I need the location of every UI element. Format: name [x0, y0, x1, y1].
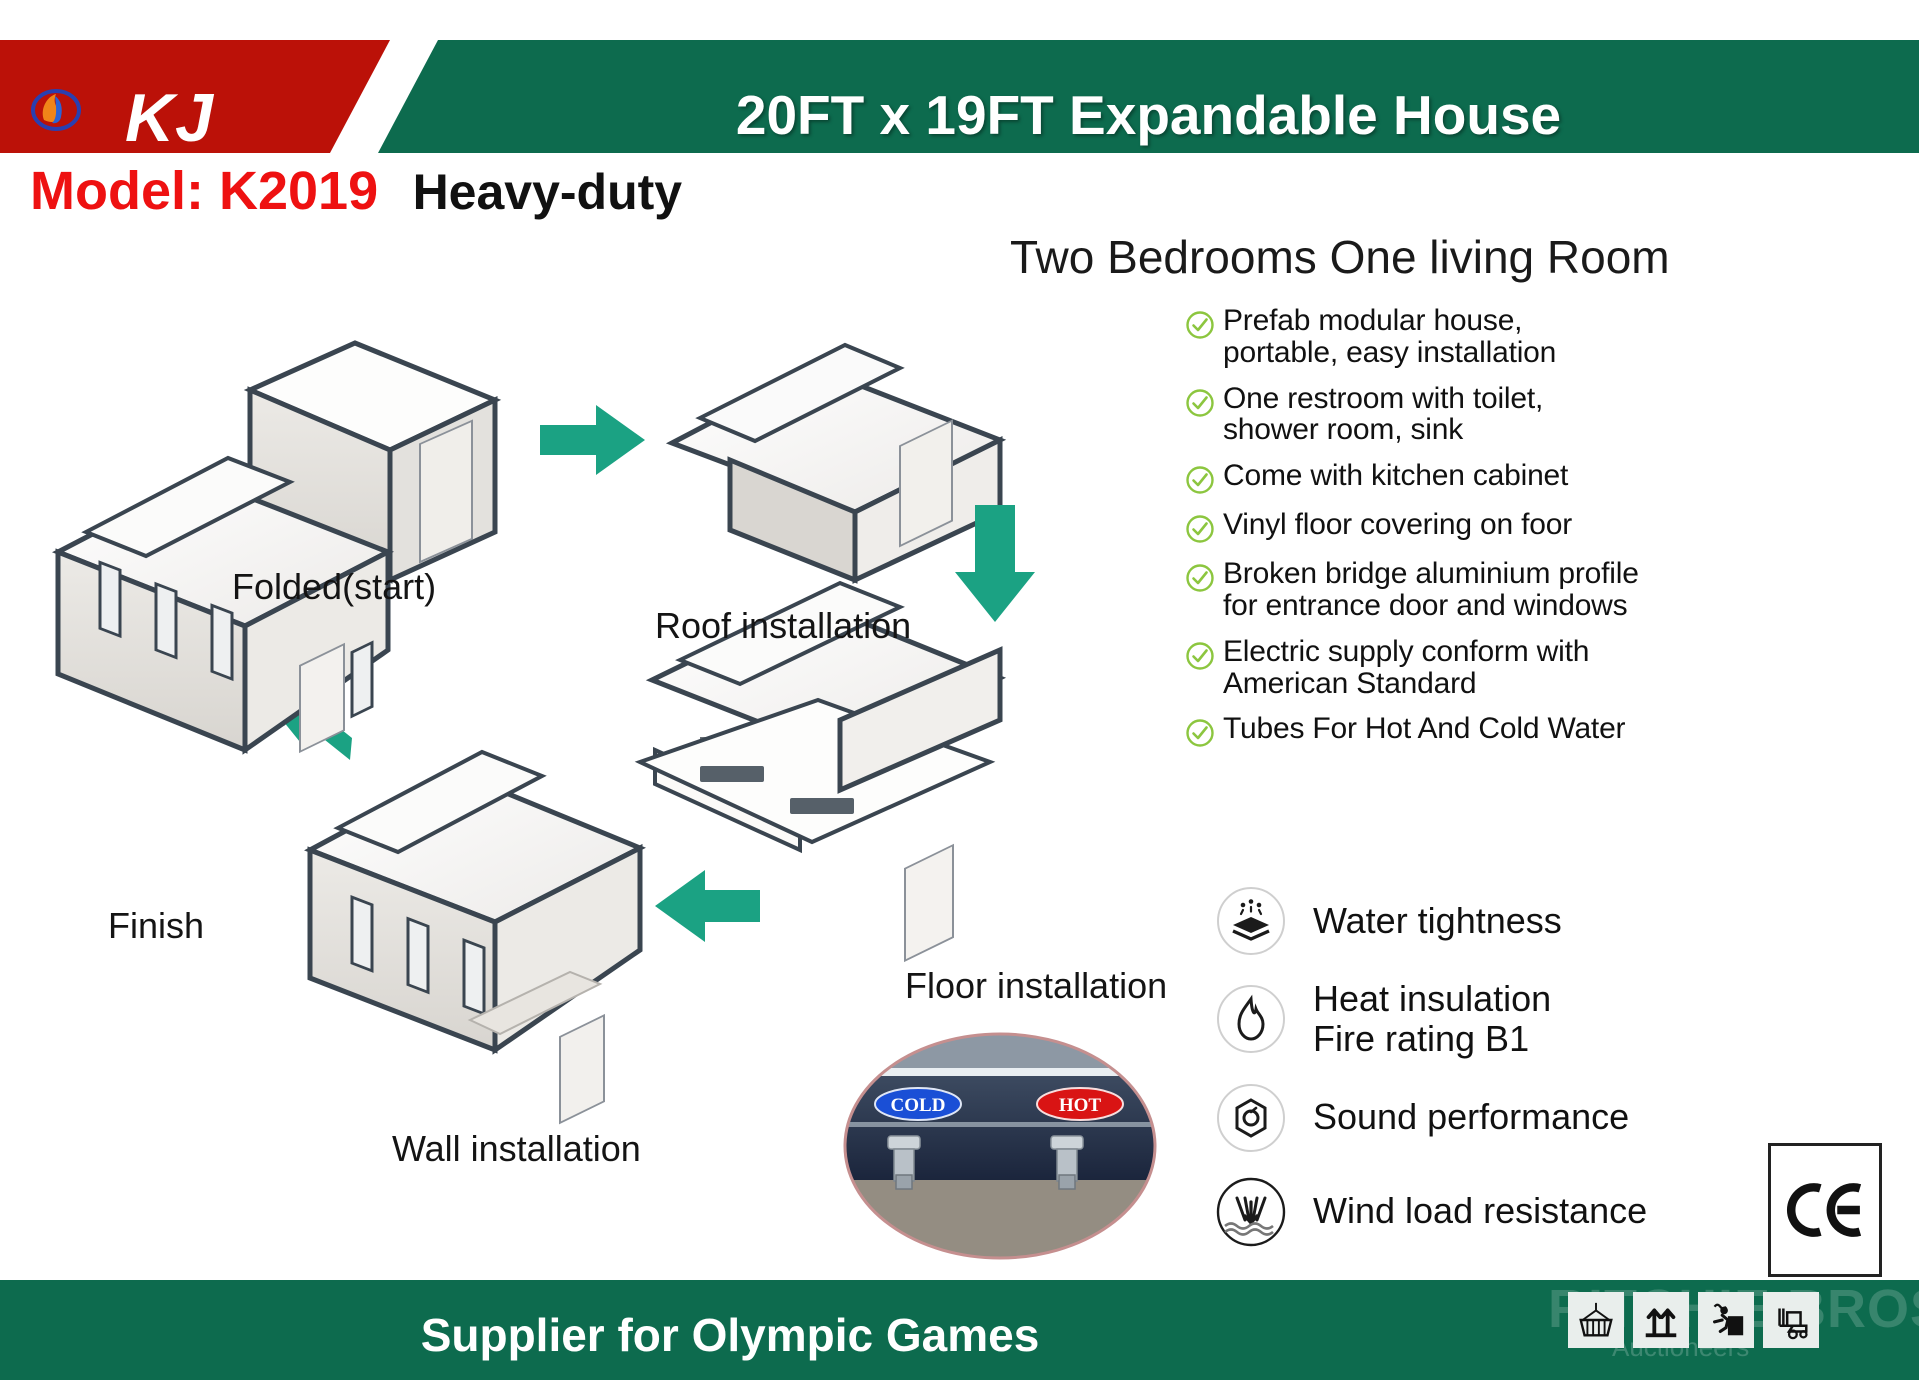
model-duty: Heavy-duty [413, 164, 683, 220]
header-banner: KJ 20FT x 19FT Expandable House [0, 40, 1919, 153]
list-item: Come with kitchen cabinet [1185, 460, 1905, 495]
step-label-floor: Floor installation [905, 965, 1167, 1007]
list-item: Tubes For Hot And Cold Water [1185, 713, 1905, 748]
handling-icon-group [1568, 1292, 1819, 1348]
list-item-label: Come with kitchen cabinet [1223, 460, 1568, 492]
page-title: 20FT x 19FT Expandable House [378, 88, 1919, 143]
list-item: Broken bridge aluminium profilefor entra… [1185, 558, 1905, 622]
kj-flame-logo-icon [30, 84, 82, 136]
list-item: One restroom with toilet,shower room, si… [1185, 383, 1905, 447]
arrow-folded-to-roof [540, 405, 645, 475]
brand-name: KJ [125, 84, 214, 152]
step-illustration-roof [672, 345, 1000, 580]
check-circle-icon [1185, 563, 1215, 593]
step-label-finish: Finish [108, 905, 204, 947]
hot-cold-water-connection-photo: COLD HOT [840, 1030, 1160, 1265]
list-item: Electric supply conform withAmerican Sta… [1185, 636, 1905, 700]
step-label-folded: Folded(start) [232, 566, 436, 608]
check-circle-icon [1185, 514, 1215, 544]
this-way-up-icon [1633, 1292, 1689, 1348]
step-illustration-wall [310, 752, 640, 1123]
right-panel-heading: Two Bedrooms One living Room [1010, 230, 1900, 284]
list-item-label: Prefab modular house,portable, easy inst… [1223, 305, 1556, 369]
list-item-label: Vinyl floor covering on foor [1223, 509, 1572, 541]
forklift-icon [1763, 1292, 1819, 1348]
wind-load-resistance-icon [1215, 1176, 1287, 1248]
flame-heat-insulation-icon [1215, 983, 1287, 1055]
list-item: Water tightness [1215, 885, 1915, 957]
list-item-label: Sound performance [1313, 1097, 1629, 1137]
hot-label: HOT [1059, 1095, 1102, 1116]
list-item-label: One restroom with toilet,shower room, si… [1223, 383, 1543, 447]
ce-mark-icon [1768, 1143, 1882, 1277]
check-circle-icon [1185, 388, 1215, 418]
list-item: Heat insulationFire rating B1 [1215, 979, 1915, 1060]
list-item-label: Broken bridge aluminium profilefor entra… [1223, 558, 1639, 622]
feature-bullet-list: Prefab modular house,portable, easy inst… [1185, 305, 1905, 762]
list-item: Vinyl floor covering on foor [1185, 509, 1905, 544]
list-item-label: Electric supply conform withAmerican Sta… [1223, 636, 1589, 700]
step-label-wall: Wall installation [392, 1128, 641, 1170]
list-item-label: Tubes For Hot And Cold Water [1223, 713, 1625, 745]
check-circle-icon [1185, 310, 1215, 340]
infographic-page: KJ 20FT x 19FT Expandable House Model: K… [0, 0, 1919, 1380]
arrow-floor-to-wall [655, 870, 760, 942]
water-tightness-icon [1215, 885, 1287, 957]
sound-performance-icon [1215, 1082, 1287, 1154]
model-code: Model: K2019 [30, 161, 378, 221]
list-item-label: Wind load resistance [1313, 1191, 1647, 1231]
list-item-label: Heat insulationFire rating B1 [1313, 979, 1551, 1060]
model-line: Model: K2019 Heavy-duty [30, 160, 682, 222]
footer-text: Supplier for Olympic Games [0, 1308, 1460, 1362]
no-climbing-icon [1698, 1292, 1754, 1348]
step-label-roof: Roof installation [655, 605, 911, 647]
list-item-label: Water tightness [1313, 901, 1562, 941]
container-sling-icon [1568, 1292, 1624, 1348]
cold-label: COLD [891, 1095, 946, 1116]
check-circle-icon [1185, 641, 1215, 671]
check-circle-icon [1185, 465, 1215, 495]
list-item: Prefab modular house,portable, easy inst… [1185, 305, 1905, 369]
check-circle-icon [1185, 718, 1215, 748]
